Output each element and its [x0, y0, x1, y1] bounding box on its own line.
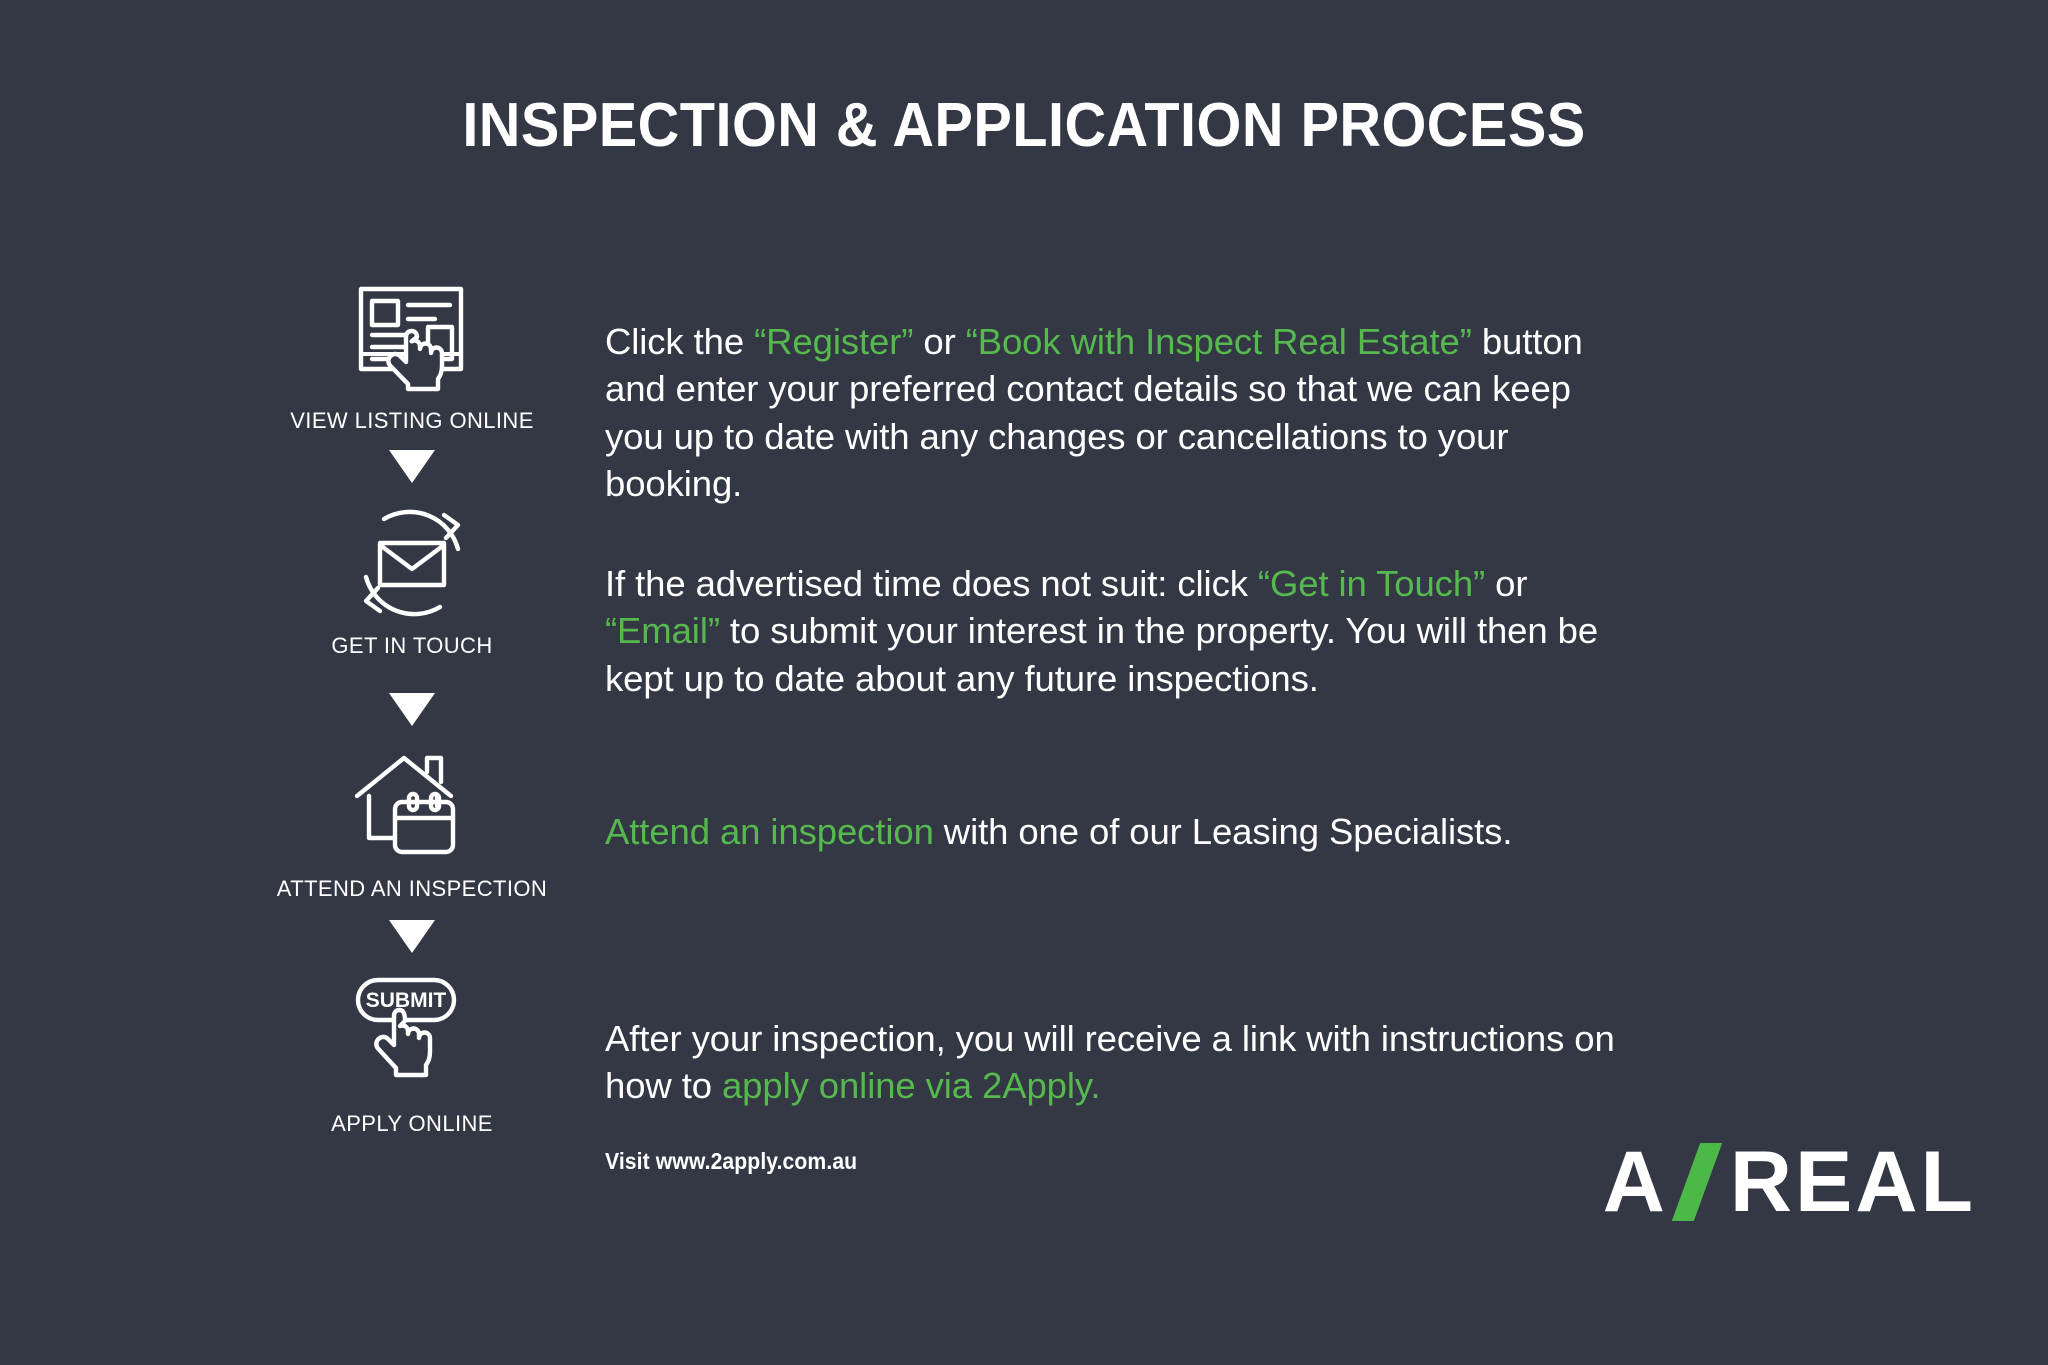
visit-url-text: Visit www.2apply.com.au	[605, 1148, 1553, 1175]
brand-logo: A REAL	[1603, 1136, 1976, 1228]
highlight-apply-online-2apply: apply online via 2Apply.	[722, 1065, 1100, 1106]
steps-column: VIEW LISTING ONLINE GET IN TOUCH	[262, 280, 562, 1137]
envelope-refresh-circle-icon	[262, 505, 562, 621]
step-attend-an-inspection: ATTEND AN INSPECTION	[262, 748, 562, 953]
step-label: ATTEND AN INSPECTION	[262, 876, 562, 902]
step-label: APPLY ONLINE	[262, 1111, 562, 1137]
step-apply-online: SUBMIT APPLY ONLINE	[262, 973, 562, 1137]
infographic-canvas: INSPECTION & APPLICATION PROCESS	[0, 0, 2048, 1365]
logo-word-real: REAL	[1730, 1139, 1976, 1225]
paragraph-3: Attend an inspection with one of our Lea…	[605, 808, 1635, 855]
paragraph-text: After your inspection, you will receive …	[605, 1015, 1635, 1110]
highlight-email: “Email”	[605, 610, 720, 651]
listing-page-hand-click-icon	[262, 280, 562, 396]
paragraph-2: If the advertised time does not suit: cl…	[605, 560, 1635, 702]
highlight-get-in-touch: “Get in Touch”	[1258, 563, 1485, 604]
paragraph-text: Click the “Register” or “Book with Inspe…	[605, 318, 1635, 508]
text-segment: or	[1485, 563, 1527, 604]
paragraph-text: Attend an inspection with one of our Lea…	[605, 808, 1635, 855]
down-triangle-icon	[389, 450, 435, 483]
page-title: INSPECTION & APPLICATION PROCESS	[72, 90, 1977, 161]
house-calendar-icon	[262, 748, 562, 864]
highlight-attend-an-inspection: Attend an inspection	[605, 811, 934, 852]
logo-letter-a: A	[1603, 1139, 1668, 1225]
paragraph-4: After your inspection, you will receive …	[605, 1015, 1635, 1110]
paragraph-text: If the advertised time does not suit: cl…	[605, 560, 1635, 702]
arrow-down-2	[262, 693, 562, 726]
text-segment: to submit your interest in the property.…	[605, 610, 1598, 698]
step-view-listing-online: VIEW LISTING ONLINE	[262, 280, 562, 483]
submit-button-hand-click-icon: SUBMIT	[262, 973, 562, 1099]
arrow-down-1	[262, 450, 562, 483]
step-get-in-touch: GET IN TOUCH	[262, 505, 562, 726]
logo-slash-icon	[1672, 1143, 1722, 1221]
submit-button-label: SUBMIT	[366, 989, 447, 1012]
text-segment: or	[913, 321, 965, 362]
arrow-down-3	[262, 920, 562, 953]
highlight-register: “Register”	[754, 321, 913, 362]
text-segment: Click the	[605, 321, 754, 362]
step-label: GET IN TOUCH	[262, 633, 562, 659]
visit-line: Visit www.2apply.com.au	[605, 1148, 1635, 1175]
text-segment: If the advertised time does not suit: cl…	[605, 563, 1258, 604]
text-segment: with one of our Leasing Specialists.	[934, 811, 1513, 852]
down-triangle-icon	[389, 693, 435, 726]
down-triangle-icon	[389, 920, 435, 953]
paragraph-1: Click the “Register” or “Book with Inspe…	[605, 318, 1635, 508]
highlight-book-with-ire: “Book with Inspect Real Estate”	[966, 321, 1472, 362]
step-label: VIEW LISTING ONLINE	[262, 408, 562, 434]
